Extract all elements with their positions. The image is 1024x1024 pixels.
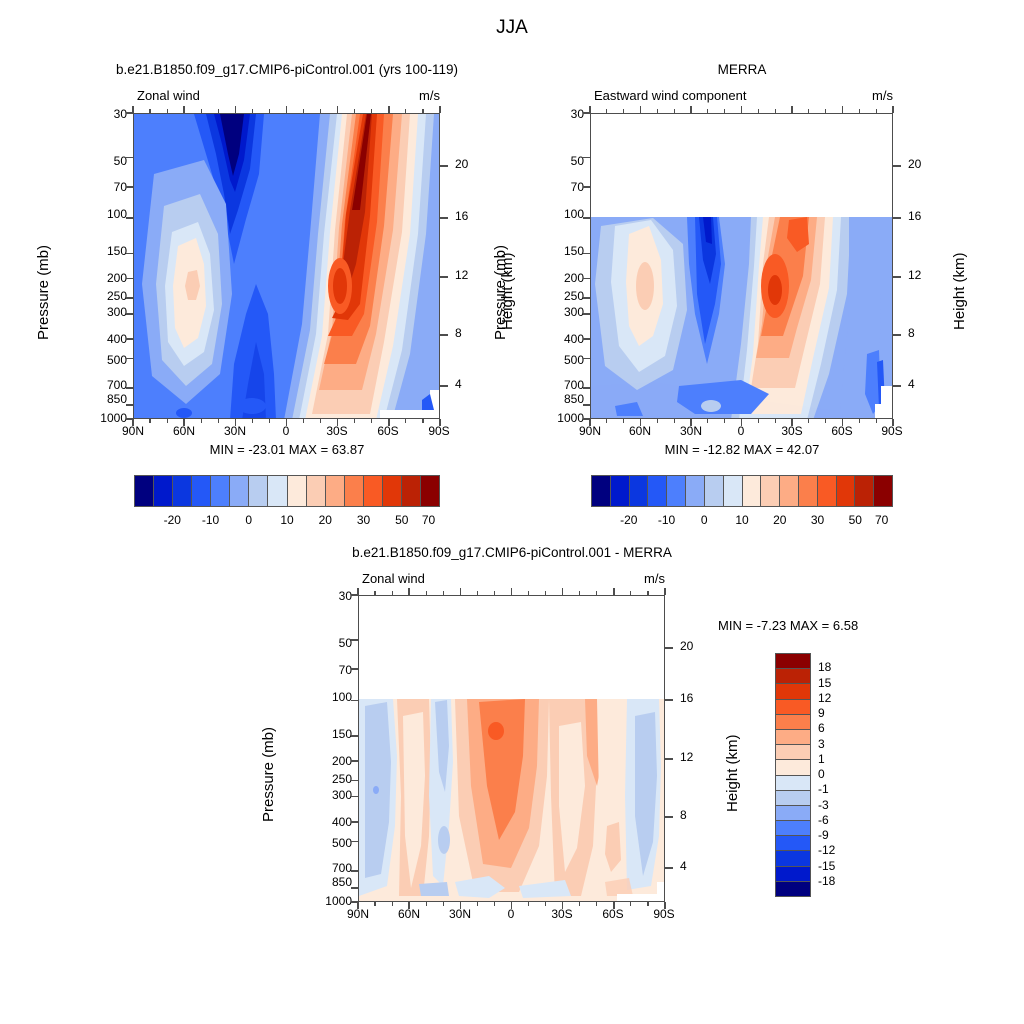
axis-tick <box>562 588 564 595</box>
contour-field-obs <box>591 114 893 419</box>
ytick-label: 150 <box>107 245 127 257</box>
axis-tick <box>351 887 358 889</box>
xtick-label: 0 <box>508 908 515 920</box>
panel-varlabel-model: Zonal wind <box>137 89 200 102</box>
colorbar-segment <box>776 669 810 684</box>
axis-tick <box>337 106 339 113</box>
colorbar-segment <box>837 476 856 506</box>
axis-tick <box>791 419 793 426</box>
axis-tick-minor <box>443 902 444 906</box>
axis-tick <box>583 112 590 114</box>
colorbar-tick-label: 0 <box>245 514 252 526</box>
xtick-label: 60S <box>377 425 398 437</box>
colorbar-tick-label: 50 <box>849 514 862 526</box>
ytick-label: 300 <box>564 306 584 318</box>
axis-tick-minor <box>405 419 406 423</box>
ytick-label: 250 <box>564 290 584 302</box>
axis-tick-minor <box>758 109 759 113</box>
axis-tick-minor <box>320 109 321 113</box>
axis-tick <box>126 387 133 389</box>
y2tick-label: 12 <box>680 751 693 763</box>
axis-tick <box>583 157 590 159</box>
colorbar-segment <box>421 476 439 506</box>
axis-tick <box>741 106 743 113</box>
axis-tick-minor <box>218 109 219 113</box>
axis-tick <box>690 106 692 113</box>
colorbar-tick-label: 0 <box>818 768 825 780</box>
colorbar-segment <box>776 867 810 882</box>
colorbar-segment <box>288 476 307 506</box>
axis-tick-minor <box>775 109 776 113</box>
axis-tick-minor <box>647 591 648 595</box>
axis-tick-minor <box>374 902 375 906</box>
axis-tick-minor <box>477 902 478 906</box>
axis-tick <box>791 106 793 113</box>
ytick-label: 700 <box>332 862 352 874</box>
colorbar-segment <box>855 476 874 506</box>
colorbar-tick-label: 6 <box>818 722 825 734</box>
colorbar-segment <box>761 476 780 506</box>
axis-tick <box>583 278 590 280</box>
colorbar-segment <box>776 715 810 730</box>
y2tick-label: 4 <box>908 378 915 390</box>
axis-tick-minor <box>596 902 597 906</box>
ytick-label: 400 <box>332 816 352 828</box>
colorbar-segment <box>776 684 810 699</box>
ytick-label: 100 <box>564 208 584 220</box>
axis-tick <box>351 780 358 782</box>
axis-tick <box>351 870 358 872</box>
axis-tick-minor <box>724 419 725 423</box>
axis-tick-minor <box>674 109 675 113</box>
ytick-label: 150 <box>564 245 584 257</box>
axis-tick-minor <box>859 419 860 423</box>
colorbar-tick-label: -3 <box>818 799 829 811</box>
minmax-diff: MIN = -7.23 MAX = 6.58 <box>718 619 858 632</box>
axis-tick-minor <box>269 109 270 113</box>
xtick-label: 90N <box>347 908 369 920</box>
axis-tick-minor <box>623 109 624 113</box>
axis-tick-minor <box>630 902 631 906</box>
ytick-label: 850 <box>332 876 352 888</box>
axis-tick-minor <box>775 419 776 423</box>
axis-tick <box>235 106 237 113</box>
axis-tick-minor <box>269 419 270 423</box>
axis-tick-minor <box>825 419 826 423</box>
colorbar-segment <box>776 700 810 715</box>
axis-tick <box>583 217 590 219</box>
axis-tick-minor <box>596 591 597 595</box>
axis-tick <box>351 700 358 702</box>
axis-tick <box>388 106 390 113</box>
ytick-label: 30 <box>114 108 127 120</box>
axis-tick-minor <box>606 419 607 423</box>
axis-tick <box>351 594 358 596</box>
xtick-label: 90N <box>579 425 601 437</box>
xtick-label: 60N <box>629 425 651 437</box>
colorbar-tick-label: 1 <box>818 753 825 765</box>
ytick-label: 700 <box>564 379 584 391</box>
colorbar-model[interactable] <box>134 475 440 507</box>
ytick-label: 500 <box>332 837 352 849</box>
colorbar-tick-label: -18 <box>818 875 835 887</box>
minmax-model: MIN = -23.01 MAX = 63.87 <box>210 443 365 456</box>
axis-tick-minor <box>494 591 495 595</box>
axis-tick <box>892 106 894 113</box>
axis-tick-minor <box>477 591 478 595</box>
axis-tick-minor <box>303 109 304 113</box>
y2tick-label: 8 <box>680 809 687 821</box>
colorbar-tick-label: -9 <box>818 829 829 841</box>
ytick-label: 500 <box>564 354 584 366</box>
axis-tick-minor <box>579 591 580 595</box>
colorbar-segment <box>743 476 762 506</box>
axis-tick-minor <box>707 419 708 423</box>
colorbar-tick-label: 10 <box>280 514 293 526</box>
xtick-label: 0 <box>738 425 745 437</box>
y2tick-label: 16 <box>680 692 693 704</box>
axis-tick-minor <box>374 591 375 595</box>
axis-tick <box>613 902 615 909</box>
colorbar-tick-label: 15 <box>818 677 831 689</box>
axis-tick <box>562 902 564 909</box>
axis-tick <box>589 419 591 426</box>
ytick-label: 200 <box>332 755 352 767</box>
colorbar-segment <box>173 476 192 506</box>
axis-tick-minor <box>392 591 393 595</box>
axis-tick-minor <box>252 109 253 113</box>
xtick-label: 0 <box>283 425 290 437</box>
colorbar-segment <box>326 476 345 506</box>
axis-tick <box>126 278 133 280</box>
ytick-label: 500 <box>107 354 127 366</box>
colorbar-segment <box>776 806 810 821</box>
axis-tick-minor <box>443 591 444 595</box>
axis-tick <box>439 419 441 426</box>
axis-tick-minor <box>320 419 321 423</box>
colorbar-segment <box>705 476 724 506</box>
axis-tick <box>690 419 692 426</box>
axis-tick <box>664 588 666 595</box>
axis-tick-minor <box>528 902 529 906</box>
axis-tick-minor <box>422 419 423 423</box>
contour-field-diff <box>359 596 665 902</box>
ytick-label: 70 <box>339 664 352 676</box>
axis-tick-minor <box>354 419 355 423</box>
y2tick-label: 4 <box>680 860 687 872</box>
axis-tick <box>126 358 133 360</box>
colorbar-tick-label: 10 <box>735 514 748 526</box>
axis-tick-minor <box>149 109 150 113</box>
y-axis-title-diff: Pressure (mb) <box>261 727 276 822</box>
colorbar-segment <box>592 476 611 506</box>
xtick-label: 30N <box>224 425 246 437</box>
colorbar-tick-label: 50 <box>395 514 408 526</box>
axis-tick <box>337 419 339 426</box>
axis-tick <box>583 297 590 299</box>
axis-tick <box>286 106 288 113</box>
axis-tick <box>126 313 133 315</box>
colorbar-segment <box>402 476 421 506</box>
axis-tick-minor <box>579 902 580 906</box>
ytick-label: 30 <box>571 108 584 120</box>
axis-tick <box>583 404 590 406</box>
axis-tick-minor <box>426 591 427 595</box>
axis-tick <box>286 419 288 426</box>
axis-tick-minor <box>371 109 372 113</box>
axis-tick-minor <box>149 419 150 423</box>
axis-tick <box>439 106 441 113</box>
colorbar-segment <box>780 476 799 506</box>
colorbar-segment <box>667 476 686 506</box>
axis-tick-minor <box>630 591 631 595</box>
colorbar-tick-label: 3 <box>818 738 825 750</box>
axis-tick-minor <box>252 419 253 423</box>
axis-tick-minor <box>657 419 658 423</box>
axis-tick <box>408 902 410 909</box>
colorbar-tick-label: -10 <box>202 514 219 526</box>
colorbar-segment <box>776 851 810 866</box>
xtick-label: 30S <box>781 425 802 437</box>
xtick-label: 30S <box>326 425 347 437</box>
colorbar-segment <box>776 760 810 775</box>
axis-tick <box>351 760 358 762</box>
xtick-label: 60N <box>173 425 195 437</box>
colorbar-tick-label: 70 <box>875 514 888 526</box>
y2tick-label: 16 <box>455 210 468 222</box>
colorbar-segment <box>724 476 743 506</box>
plot-area-diff[interactable] <box>358 595 665 902</box>
colorbar-segment <box>630 476 649 506</box>
panel-varlabel-obs: Eastward wind component <box>594 89 746 102</box>
ytick-label: 400 <box>564 333 584 345</box>
axis-tick-minor <box>647 902 648 906</box>
axis-tick <box>351 841 358 843</box>
panel-units-model: m/s <box>419 89 440 102</box>
axis-tick-minor <box>623 419 624 423</box>
axis-tick <box>126 112 133 114</box>
axis-tick-minor <box>758 419 759 423</box>
axis-tick-minor <box>371 419 372 423</box>
colorbar-segment <box>211 476 230 506</box>
y2tick-label: 12 <box>908 269 921 281</box>
ytick-label: 1000 <box>325 895 352 907</box>
ytick-label: 100 <box>107 208 127 220</box>
y2tick-label: 8 <box>908 327 915 339</box>
axis-tick <box>583 418 590 420</box>
axis-tick <box>126 253 133 255</box>
colorbar-segment <box>648 476 667 506</box>
axis-tick <box>388 419 390 426</box>
axis-tick-minor <box>808 109 809 113</box>
colorbar-tick-label: 9 <box>818 707 825 719</box>
axis-tick <box>892 419 894 426</box>
colorbar-segment <box>776 836 810 851</box>
colorbar-tick-label: -20 <box>620 514 637 526</box>
axis-tick-minor <box>545 591 546 595</box>
xtick-label: 30N <box>680 425 702 437</box>
axis-tick <box>351 668 358 670</box>
colorbar-segment <box>776 821 810 836</box>
xtick-label: 30S <box>551 908 572 920</box>
ytick-label: 1000 <box>557 412 584 424</box>
colorbar-segment <box>345 476 364 506</box>
colorbar-tick-label: 30 <box>811 514 824 526</box>
ytick-label: 70 <box>571 181 584 193</box>
axis-tick-minor <box>707 109 708 113</box>
ytick-label: 250 <box>107 290 127 302</box>
y2-axis-title-obs: Height (km) <box>952 252 967 330</box>
axis-tick-minor <box>724 109 725 113</box>
colorbar-segment <box>230 476 249 506</box>
axis-tick <box>664 902 666 909</box>
axis-tick <box>460 902 462 909</box>
axis-tick <box>351 796 358 798</box>
ytick-label: 250 <box>332 773 352 785</box>
colorbar-segment <box>776 730 810 745</box>
axis-tick <box>583 313 590 315</box>
ytick-label: 200 <box>107 272 127 284</box>
axis-tick <box>613 588 615 595</box>
axis-tick-minor <box>528 591 529 595</box>
page-title: JJA <box>496 18 528 37</box>
colorbar-segment <box>268 476 287 506</box>
axis-tick-minor <box>494 902 495 906</box>
axis-tick-minor <box>167 419 168 423</box>
axis-tick <box>235 419 237 426</box>
ytick-label: 1000 <box>100 412 127 424</box>
y2-axis-title-diff: Height (km) <box>725 734 740 812</box>
axis-tick-minor <box>392 902 393 906</box>
panel-units-obs: m/s <box>872 89 893 102</box>
ytick-label: 70 <box>114 181 127 193</box>
colorbar-tick-label: 30 <box>357 514 370 526</box>
axis-tick <box>842 419 844 426</box>
panel-title-diff: b.e21.B1850.f09_g17.CMIP6-piControl.001 … <box>352 546 672 560</box>
axis-tick-minor <box>674 419 675 423</box>
xtick-label: 30N <box>449 908 471 920</box>
axis-tick <box>126 186 133 188</box>
axis-tick <box>126 404 133 406</box>
contour-field-model <box>134 114 440 419</box>
colorbar-tick-label: -12 <box>818 844 835 856</box>
ytick-label: 30 <box>339 590 352 602</box>
colorbar-segment <box>364 476 383 506</box>
axis-tick <box>126 157 133 159</box>
axis-tick <box>460 588 462 595</box>
colorbar-segment <box>776 882 810 896</box>
axis-tick <box>640 106 642 113</box>
colorbar-tick-label: -10 <box>658 514 675 526</box>
axis-tick <box>132 419 134 426</box>
colorbar-obs[interactable] <box>591 475 893 507</box>
axis-tick <box>357 902 359 909</box>
axis-tick-minor <box>876 419 877 423</box>
colorbar-segment <box>776 654 810 669</box>
axis-tick-minor <box>167 109 168 113</box>
axis-tick <box>351 821 358 823</box>
ytick-label: 150 <box>332 728 352 740</box>
xtick-label: 60S <box>831 425 852 437</box>
colorbar-tick-label: 12 <box>818 692 831 704</box>
y2tick-label: 20 <box>680 640 693 652</box>
axis-tick-minor <box>422 109 423 113</box>
axis-tick <box>583 186 590 188</box>
xtick-label: 90N <box>122 425 144 437</box>
colorbar-tick-label: -6 <box>818 814 829 826</box>
colorbar-tick-label: 0 <box>701 514 708 526</box>
axis-tick-minor <box>354 109 355 113</box>
colorbar-segment <box>135 476 154 506</box>
colorbar-segment <box>776 776 810 791</box>
ytick-label: 400 <box>107 333 127 345</box>
axis-tick <box>583 338 590 340</box>
ytick-label: 200 <box>564 272 584 284</box>
xtick-label: 90S <box>881 425 902 437</box>
axis-tick <box>583 358 590 360</box>
plot-area-obs[interactable] <box>590 113 893 419</box>
ytick-label: 300 <box>332 789 352 801</box>
colorbar-diff[interactable] <box>775 653 811 897</box>
y2tick-label: 8 <box>455 327 462 339</box>
y-axis-title-model: Pressure (mb) <box>36 245 51 340</box>
y2tick-label: 4 <box>455 378 462 390</box>
axis-tick-minor <box>218 419 219 423</box>
axis-tick-minor <box>405 109 406 113</box>
axis-tick <box>741 419 743 426</box>
y2tick-label: 20 <box>455 158 468 170</box>
ytick-label: 850 <box>107 393 127 405</box>
panel-title-obs: MERRA <box>718 63 767 77</box>
axis-tick <box>640 419 642 426</box>
axis-tick <box>351 735 358 737</box>
axis-tick <box>842 106 844 113</box>
ytick-label: 850 <box>564 393 584 405</box>
axis-tick-minor <box>201 419 202 423</box>
ytick-label: 700 <box>107 379 127 391</box>
xtick-label: 90S <box>428 425 449 437</box>
plot-area-model[interactable] <box>133 113 440 419</box>
xtick-label: 60S <box>602 908 623 920</box>
colorbar-segment <box>154 476 173 506</box>
colorbar-tick-label: 18 <box>818 661 831 673</box>
axis-tick <box>511 902 513 909</box>
xtick-label: 60N <box>398 908 420 920</box>
ytick-label: 50 <box>571 155 584 167</box>
ytick-label: 50 <box>339 637 352 649</box>
minmax-obs: MIN = -12.82 MAX = 42.07 <box>665 443 820 456</box>
colorbar-segment <box>383 476 402 506</box>
axis-tick-minor <box>657 109 658 113</box>
colorbar-tick-label: -1 <box>818 783 829 795</box>
y2tick-label: 20 <box>908 158 921 170</box>
colorbar-segment <box>776 745 810 760</box>
panel-units-diff: m/s <box>644 572 665 585</box>
axis-tick <box>126 418 133 420</box>
axis-tick-minor <box>808 419 809 423</box>
colorbar-segment <box>307 476 326 506</box>
axis-tick <box>351 901 358 903</box>
colorbar-tick-label: 70 <box>422 514 435 526</box>
ytick-label: 300 <box>107 306 127 318</box>
colorbar-segment <box>874 476 892 506</box>
axis-tick <box>511 588 513 595</box>
axis-tick <box>583 387 590 389</box>
axis-tick-minor <box>859 109 860 113</box>
axis-tick-minor <box>825 109 826 113</box>
axis-tick <box>183 419 185 426</box>
axis-tick-minor <box>545 902 546 906</box>
